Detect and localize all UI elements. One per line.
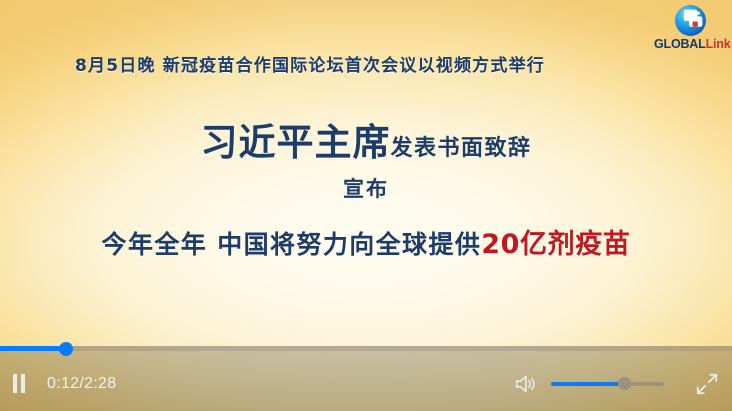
pause-icon (13, 374, 17, 393)
progress-bar[interactable] (0, 346, 732, 351)
wordmark-global: GLOBAL (654, 37, 706, 51)
pause-icon-bar-2 (21, 374, 25, 393)
speaker-wave-icon (512, 371, 538, 397)
volume-slider-fill (551, 382, 624, 386)
control-row: 0:12/2:28 (0, 356, 732, 411)
expand-arrows-icon (695, 372, 719, 396)
volume-slider-handle[interactable] (618, 377, 631, 390)
wordmark-link: Link (706, 37, 731, 51)
video-player[interactable]: GLOBALLink 8月5日晚 新冠疫苗合作国际论坛首次会议以视频方式举行 习… (0, 0, 732, 411)
globalink-wordmark: GLOBALLink (654, 38, 726, 51)
globe-link-logo-icon (674, 4, 707, 37)
volume-slider[interactable] (551, 382, 664, 386)
pause-button[interactable] (4, 369, 34, 399)
progress-bar-handle[interactable] (59, 342, 73, 356)
volume-button[interactable] (511, 370, 539, 398)
fullscreen-button[interactable] (694, 371, 720, 397)
globalink-watermark: GLOBALLink (654, 2, 726, 51)
player-control-bar[interactable]: 0:12/2:28 (0, 351, 732, 411)
time-display: 0:12/2:28 (47, 375, 116, 393)
progress-bar-fill (0, 346, 66, 351)
